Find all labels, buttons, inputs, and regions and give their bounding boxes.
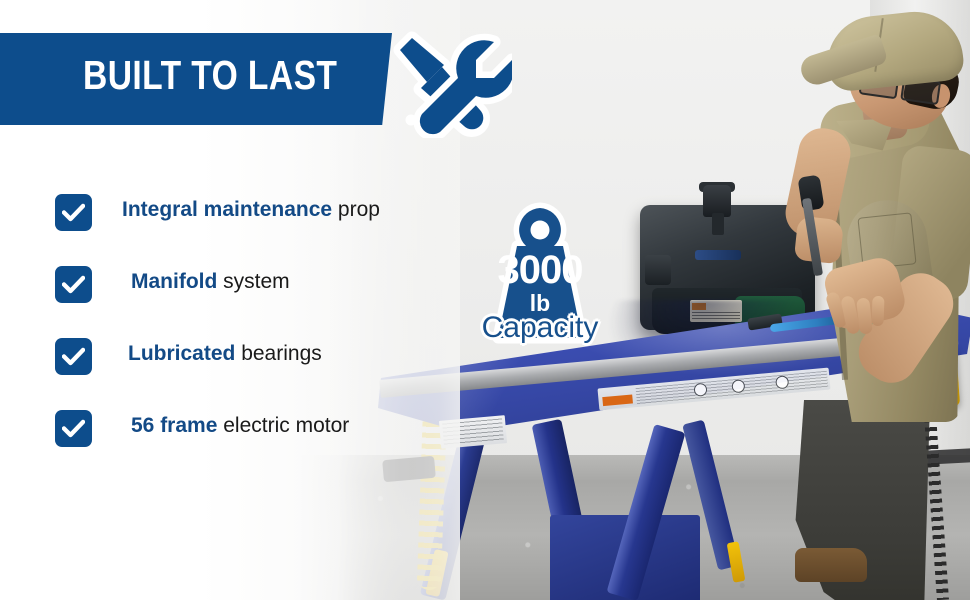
scissor-yellow-accent (727, 541, 746, 582)
list-item-rest: prop (332, 198, 380, 221)
list-item[interactable]: Lubricated bearings (0, 334, 430, 406)
list-item-highlight: Integral maintenance (122, 198, 332, 221)
list-item-highlight: 56 frame (131, 414, 217, 437)
checkmark-icon (55, 194, 92, 231)
capacity-label: Capacity (470, 311, 610, 345)
capacity-value: 3000 (470, 248, 610, 293)
list-item-highlight: Manifold (131, 270, 217, 293)
list-item-label: 56 frame electric motor (131, 414, 349, 438)
infographic-root: BUILT TO LAST Integral maintenance prop (0, 0, 970, 600)
list-item[interactable]: Integral maintenance prop (0, 190, 430, 262)
list-item-rest: electric motor (217, 414, 349, 437)
worker-finger (871, 296, 884, 326)
check-glyph (62, 419, 85, 438)
list-item-label: Lubricated bearings (128, 342, 322, 366)
check-glyph (62, 347, 85, 366)
list-item[interactable]: 56 frame electric motor (0, 406, 430, 478)
checkmark-icon (55, 410, 92, 447)
check-glyph (62, 275, 85, 294)
checkmark-icon (55, 338, 92, 375)
decal-orange-block (602, 394, 633, 406)
list-item-label: Manifold system (131, 270, 290, 294)
spec-label (439, 415, 507, 449)
list-item-label: Integral maintenance prop (122, 198, 380, 222)
motor-side-port (645, 255, 671, 285)
feature-checklist: Integral maintenance prop Manifold syste… (0, 190, 430, 478)
list-item[interactable]: Manifold system (0, 262, 430, 334)
spec-text-lines (442, 418, 504, 445)
list-item-highlight: Lubricated (128, 342, 235, 365)
list-item-rest: bearings (235, 342, 321, 365)
checkmark-icon (55, 266, 92, 303)
capacity-badge: 3000 lb Capacity (470, 198, 610, 358)
page-title: BUILT TO LAST (83, 52, 337, 99)
worker (700, 0, 970, 470)
list-item-rest: system (217, 270, 289, 293)
crossed-wrench-screwdriver-icon (382, 20, 512, 138)
check-glyph (62, 203, 85, 222)
